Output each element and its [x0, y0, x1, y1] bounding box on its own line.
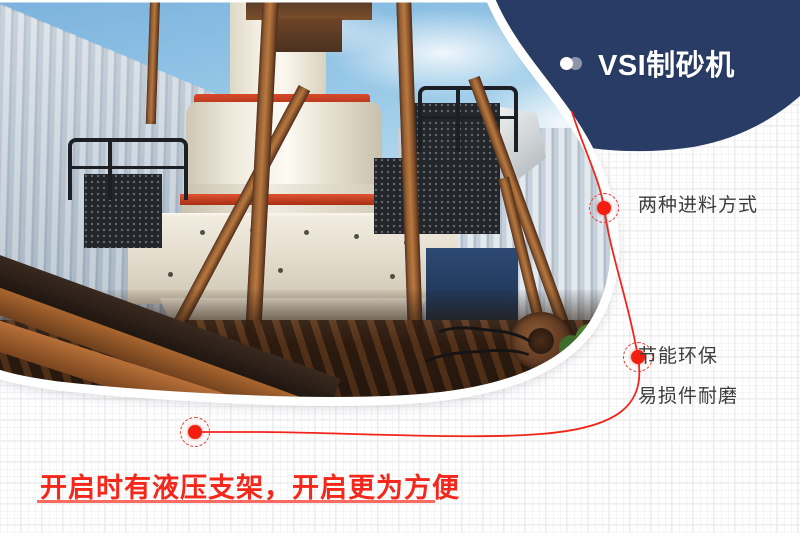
bolt — [200, 230, 205, 235]
overhead-gantry-box — [276, 18, 342, 52]
page-title: VSI制砂机 — [560, 42, 735, 84]
machine-red-ring-lower — [180, 194, 392, 205]
handrail-left — [68, 138, 188, 200]
red-node-icon — [597, 201, 611, 215]
handrail-mid-bar — [422, 116, 514, 119]
promo-banner: VSI制砂机 两种进料方式 节能环保 易损件耐磨 开启时有液压支架，开启更为方便 — [0, 0, 800, 533]
bolt — [390, 274, 395, 279]
bottom-caption-underline — [37, 500, 435, 503]
bolt — [304, 230, 309, 235]
handrail-post — [456, 90, 460, 152]
bullet-dot-white — [560, 57, 573, 70]
bolt — [278, 268, 283, 273]
feature-marker-1[interactable] — [589, 193, 619, 223]
bolt — [168, 272, 173, 277]
handrail-mid-bar — [72, 166, 184, 169]
shrub — [554, 320, 612, 366]
page-title-text: VSI制砂机 — [598, 42, 735, 84]
feature-label-1: 两种进料方式 — [638, 196, 758, 215]
handrail-post — [108, 142, 112, 200]
bullet-dot-icon — [560, 57, 584, 70]
feature-label-2: 节能环保 — [638, 347, 718, 366]
bolt — [354, 234, 359, 239]
perforated-guard-panel — [374, 158, 500, 234]
caption-marker[interactable] — [180, 417, 210, 447]
feature-label-3: 易损件耐磨 — [638, 387, 738, 406]
red-node-icon — [188, 425, 202, 439]
